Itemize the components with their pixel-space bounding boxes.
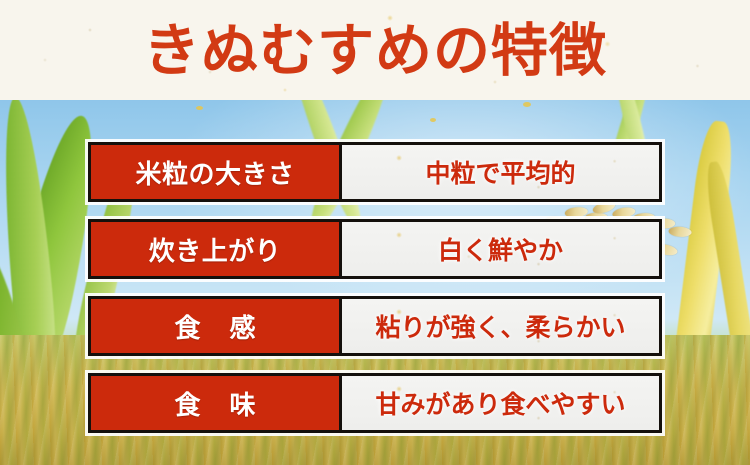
feature-label: 食 味 — [91, 376, 342, 430]
page-title: きぬむすめの特徴 — [143, 21, 607, 80]
feature-value: 粘りが強く、柔らかい — [342, 299, 659, 353]
table-row: 炊き上がり 白く鮮やか — [88, 219, 662, 279]
feature-value: 中粒で平均的 — [342, 145, 659, 199]
poster-root: きぬむすめの特徴 米粒の大きさ 中粒で平均的 炊き上がり 白く鮮やか 食 感 粘… — [0, 0, 750, 465]
chaff-speck — [196, 106, 203, 110]
feature-value: 白く鮮やか — [342, 222, 659, 276]
feature-label: 食 感 — [91, 299, 342, 353]
chaff-speck — [523, 102, 531, 107]
chaff-speck — [430, 118, 436, 122]
feature-table: 米粒の大きさ 中粒で平均的 炊き上がり 白く鮮やか 食 感 粘りが強く、柔らかい… — [88, 142, 662, 433]
feature-value: 甘みがあり食べやすい — [342, 376, 659, 430]
table-row: 米粒の大きさ 中粒で平均的 — [88, 142, 662, 202]
table-row: 食 味 甘みがあり食べやすい — [88, 373, 662, 433]
feature-label: 炊き上がり — [91, 222, 342, 276]
feature-label: 米粒の大きさ — [91, 145, 342, 199]
header-band: きぬむすめの特徴 — [0, 0, 750, 100]
table-row: 食 感 粘りが強く、柔らかい — [88, 296, 662, 356]
